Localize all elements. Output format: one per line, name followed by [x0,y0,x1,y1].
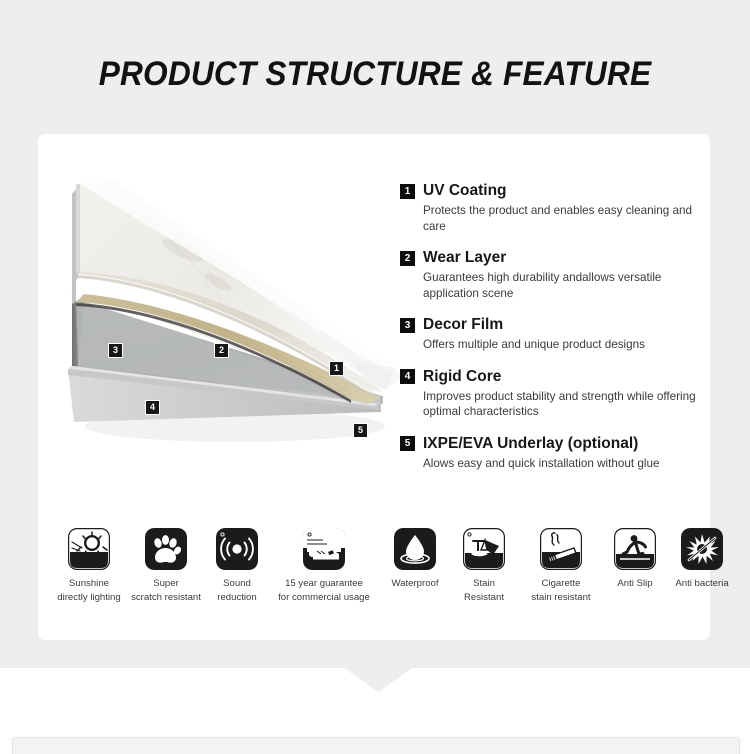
sound-wave-icon [216,528,258,570]
benefit-label: Cigarette stain resistant [518,577,604,604]
feature-list: 1 UV Coating Protects the product and en… [400,182,700,471]
feature-number-badge: 5 [400,436,415,451]
feature-description: Alows easy and quick installation withou… [423,456,700,472]
benefit-label: Sound reduction [206,577,268,604]
benefit-cigarette-stain-resistant: Cigarette stain resistant [518,528,604,604]
benefit-label: Stain Resistant [450,577,518,604]
diagram-callout-4: 4 [145,400,160,415]
paw-print-icon [145,528,187,570]
bottom-partial-panel [12,737,740,754]
feature-number-badge: 2 [400,251,415,266]
benefit-15-year-guarantee: 15 year guarantee for commercial usage [268,528,380,604]
feature-description: Guarantees high durability andallows ver… [423,270,700,301]
product-structure-diagram: 3 2 1 4 5 [50,154,400,464]
content-card: 3 2 1 4 5 1 UV Coating Protects the prod… [38,134,710,640]
feature-title: IXPE/EVA Underlay (optional) [423,435,638,453]
feature-title: Rigid Core [423,368,501,386]
feature-header: 5 IXPE/EVA Underlay (optional) [400,435,700,453]
feature-item-wear-layer: 2 Wear Layer Guarantees high durability … [400,249,700,301]
feature-title: Decor Film [423,316,503,334]
benefit-sound-reduction: Sound reduction [206,528,268,604]
feature-item-rigid-core: 4 Rigid Core Improves product stability … [400,368,700,420]
feature-item-decor-film: 3 Decor Film Offers multiple and unique … [400,316,700,353]
cigarette-icon [540,528,582,570]
feature-number-badge: 3 [400,318,415,333]
feature-description: Offers multiple and unique product desig… [423,337,700,353]
feature-description: Improves product stability and strength … [423,389,700,420]
anti-bacteria-icon [681,528,723,570]
diagram-callout-5: 5 [353,423,368,438]
band-notch-arrow [344,668,412,692]
sunshine-icon [68,528,110,570]
anti-slip-icon [614,528,656,570]
feature-description: Protects the product and enables easy cl… [423,203,700,234]
benefit-label: Super scratch resistant [126,577,206,604]
feature-header: 4 Rigid Core [400,368,700,386]
benefit-anti-bacteria: Anti bacteria [666,528,738,591]
feature-title: UV Coating [423,182,507,200]
infographic-page: PRODUCT STRUCTURE & FEATURE [0,0,750,750]
benefit-label: 15 year guarantee for commercial usage [268,577,380,604]
shoe-on-floor-icon [303,528,345,570]
feature-header: 2 Wear Layer [400,249,700,267]
benefit-icon-strip: Sunshine directly lighting Super scratch… [52,528,700,604]
feature-number-badge: 1 [400,184,415,199]
feature-title: Wear Layer [423,249,506,267]
benefit-sunshine: Sunshine directly lighting [52,528,126,604]
diagram-callout-3: 3 [108,343,123,358]
feature-item-uv-coating: 1 UV Coating Protects the product and en… [400,182,700,234]
diagram-callout-1: 1 [329,361,344,376]
benefit-label: Waterproof [380,577,450,591]
benefit-stain-resistant: Stain Resistant [450,528,518,604]
benefit-label: Anti Slip [604,577,666,591]
benefit-scratch-resistant: Super scratch resistant [126,528,206,604]
spilled-glass-icon [463,528,505,570]
feature-header: 1 UV Coating [400,182,700,200]
benefit-anti-slip: Anti Slip [604,528,666,591]
benefit-label: Sunshine directly lighting [52,577,126,604]
feature-item-ixpe-eva-underlay: 5 IXPE/EVA Underlay (optional) Alows eas… [400,435,700,472]
water-drop-icon [394,528,436,570]
benefit-label: Anti bacteria [666,577,738,591]
page-title: PRODUCT STRUCTURE & FEATURE [26,52,724,96]
diagram-callout-2: 2 [214,343,229,358]
feature-number-badge: 4 [400,369,415,384]
feature-header: 3 Decor Film [400,316,700,334]
flooring-cutaway-svg [50,154,400,464]
benefit-waterproof: Waterproof [380,528,450,591]
